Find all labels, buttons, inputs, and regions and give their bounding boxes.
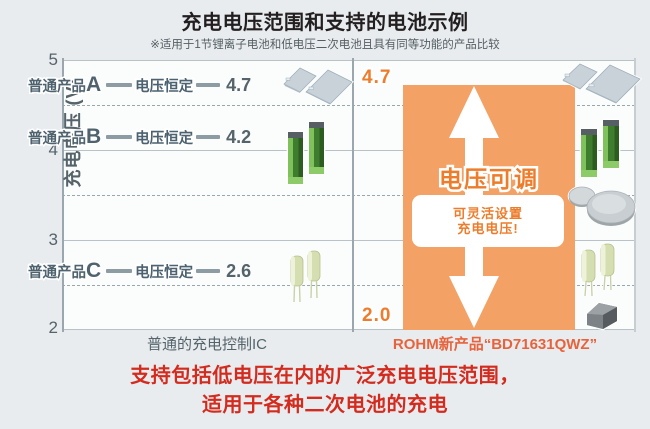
leader-line-right-b [196, 135, 220, 139]
constant-voltage-label-c: 电压恒定 [135, 261, 193, 282]
left-panel-caption: 普通的充电控制IC [62, 333, 352, 354]
product-c-label: 普通产品C [28, 259, 101, 283]
range-min-value: 2.0 [362, 305, 391, 327]
leader-line-left-b [106, 135, 132, 139]
value-b: 4.2 [226, 127, 251, 148]
page-subtitle: ※适用于1节锂离子电池和低电压二次电池且具有同等功能的产品比较 [0, 36, 650, 52]
value-c: 2.6 [226, 261, 251, 282]
tagline-line-2: 适用于各种二次电池的充电 [0, 391, 650, 420]
pouch-battery-icon [560, 58, 646, 108]
cylindrical-battery-icon [577, 116, 629, 182]
constant-voltage-label-b: 电压恒定 [135, 127, 193, 148]
row-product-c: 普通产品C 电压恒定 2.6 [28, 258, 251, 284]
tagline-line-1: 支持包括低电压在内的广泛充电电压范围， [0, 362, 650, 391]
row-product-b: 普通产品B 电压恒定 4.2 [28, 124, 251, 150]
constant-voltage-label-a: 电压恒定 [135, 75, 193, 96]
row-product-a: 普通产品A 电压恒定 4.7 [28, 72, 251, 98]
capacitor-icon [577, 240, 625, 298]
gridline-5 [62, 60, 635, 61]
pouch-battery-icon [282, 62, 356, 108]
infographic-root: 充电电压范围和支持的电池示例 ※适用于1节锂离子电池和低电压二次电池且具有同等功… [0, 0, 650, 429]
product-a-label: 普通产品A [28, 73, 101, 97]
cylindrical-battery-icon [283, 118, 333, 188]
callout-line-1: 可灵活设置 [453, 206, 523, 221]
leader-line-left-a [106, 83, 132, 87]
tagline: 支持包括低电压在内的广泛充电电压范围， 适用于各种二次电池的充电 [0, 362, 650, 420]
flexible-setting-callout: 可灵活设置 充电电压! [412, 195, 564, 247]
leader-line-right-c [196, 269, 220, 273]
y-tick-5: 5 [14, 50, 58, 70]
range-max-value: 4.7 [362, 67, 391, 89]
right-panel-caption: ROHM新产品“BD71631QWZ” [355, 333, 635, 354]
leader-line-right-a [196, 83, 220, 87]
adjustable-voltage-headline: 电压可调 [403, 160, 575, 194]
value-a: 4.7 [226, 75, 251, 96]
y-tick-2: 2 [14, 318, 58, 338]
leader-line-left-c [106, 269, 132, 273]
coin-cell-battery-icon [565, 182, 641, 230]
callout-line-2: 充电电压! [457, 221, 518, 236]
y-tick-3: 3 [14, 230, 58, 250]
product-b-label: 普通产品B [28, 125, 101, 149]
page-title: 充电电压范围和支持的电池示例 [0, 6, 650, 35]
capacitor-icon [286, 248, 330, 304]
chip-component-icon [583, 298, 627, 332]
